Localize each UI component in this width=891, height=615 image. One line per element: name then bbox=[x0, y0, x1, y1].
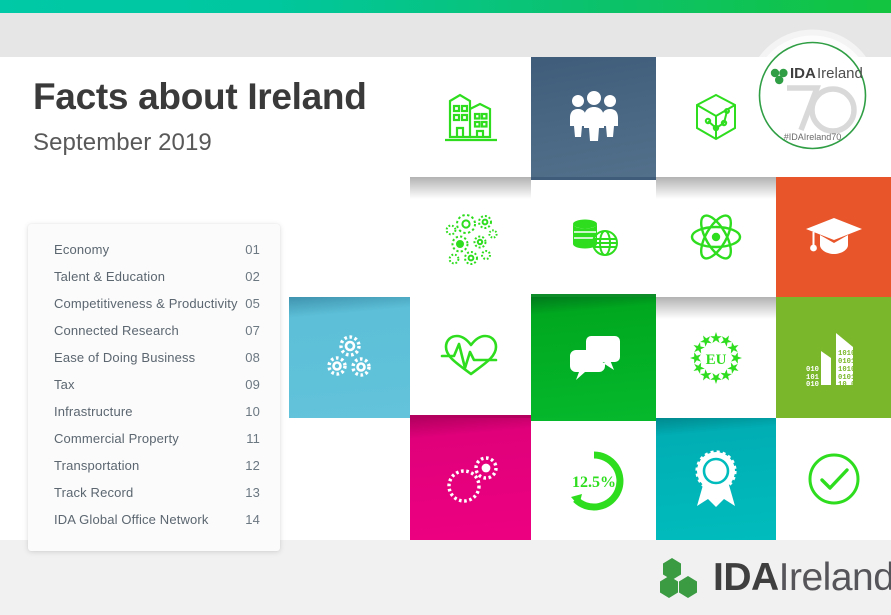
toc-item-page: 09 bbox=[245, 377, 262, 392]
award-ribbon-icon: 1 bbox=[687, 449, 745, 509]
badge-brand-suffix: Ireland bbox=[817, 65, 863, 82]
toc-item-page: 01 bbox=[245, 242, 262, 257]
toc-item[interactable]: Economy01 bbox=[46, 236, 262, 263]
tile-eu-stars: EU bbox=[656, 297, 776, 418]
page-subtitle: September 2019 bbox=[33, 129, 433, 157]
toc-item[interactable]: Tax09 bbox=[46, 371, 262, 398]
toc-item-label: Connected Research bbox=[54, 323, 179, 338]
svg-text:10 01: 10 01 bbox=[838, 381, 860, 389]
svg-text:010: 010 bbox=[806, 366, 819, 374]
ida-wordmark: IDAIreland bbox=[713, 558, 891, 597]
top-accent-bar bbox=[0, 0, 891, 13]
toc-item[interactable]: Commercial Property11 bbox=[46, 425, 262, 452]
toc-item-label: Talent & Education bbox=[54, 269, 165, 284]
toc-item[interactable]: Infrastructure10 bbox=[46, 398, 262, 425]
table-of-contents: Economy01Talent & Education02Competitive… bbox=[28, 224, 280, 551]
tax-rate-label: 12.5% bbox=[572, 474, 616, 491]
tile-graduation bbox=[776, 177, 891, 297]
badge-brand: IDA bbox=[790, 65, 816, 82]
database-globe-icon bbox=[566, 212, 622, 262]
tile-tax-rate: 12.5% bbox=[531, 418, 656, 540]
tile-gears-blue bbox=[289, 297, 410, 418]
eu-label: EU bbox=[706, 352, 727, 368]
svg-text:10101: 10101 bbox=[838, 350, 860, 358]
tile-heart-pulse bbox=[410, 297, 531, 418]
award-number-label: 1 bbox=[712, 462, 721, 481]
heart-pulse-icon bbox=[440, 330, 502, 382]
network-cube-icon bbox=[691, 90, 741, 144]
toc-item-label: IDA Global Office Network bbox=[54, 512, 209, 527]
toc-item-page: 11 bbox=[246, 431, 262, 446]
toc-item[interactable]: Track Record13 bbox=[46, 479, 262, 506]
badge-hashtag: #IDAIreland70 bbox=[784, 132, 842, 142]
two-gears-icon bbox=[439, 449, 503, 509]
toc-item-page: 08 bbox=[245, 350, 262, 365]
toc-item-label: Tax bbox=[54, 377, 75, 392]
anniversary-badge-70: IDA Ireland #IDAIreland70 bbox=[745, 28, 880, 163]
ida-wordmark-bold: IDA bbox=[713, 556, 779, 599]
svg-text:010: 010 bbox=[806, 381, 819, 389]
people-group-icon bbox=[566, 91, 622, 143]
toc-item-label: Commercial Property bbox=[54, 431, 179, 446]
ida-hexagons-icon bbox=[659, 556, 701, 598]
toc-item-page: 14 bbox=[245, 512, 262, 527]
title-block: Facts about Ireland September 2019 bbox=[33, 78, 433, 157]
slide-canvas: EU 10101 01010 10101 01010 10 01 010 101… bbox=[0, 0, 891, 615]
tile-people bbox=[531, 57, 656, 177]
tile-award: 1 bbox=[656, 418, 776, 540]
toc-item-label: Transportation bbox=[54, 458, 139, 473]
speech-bubbles-icon bbox=[566, 334, 622, 382]
toc-item[interactable]: Talent & Education02 bbox=[46, 263, 262, 290]
toc-item-page: 12 bbox=[245, 458, 262, 473]
toc-item-page: 10 bbox=[245, 404, 262, 419]
check-circle-icon bbox=[805, 450, 863, 508]
page-title: Facts about Ireland bbox=[33, 78, 433, 117]
toc-item-label: Track Record bbox=[54, 485, 133, 500]
tile-gear-pink bbox=[410, 418, 531, 540]
toc-item-page: 05 bbox=[245, 296, 262, 311]
svg-text:10101: 10101 bbox=[838, 366, 860, 374]
toc-item-label: Competitiveness & Productivity bbox=[54, 296, 238, 311]
binary-building-icon: 10101 01010 10101 01010 10 01 010 101 01… bbox=[803, 327, 865, 389]
svg-text:01010: 01010 bbox=[838, 358, 860, 366]
toc-item-label: Ease of Doing Business bbox=[54, 350, 195, 365]
ida-wordmark-light: Ireland bbox=[779, 556, 891, 599]
toc-item[interactable]: Competitiveness & Productivity05 bbox=[46, 290, 262, 317]
gear-cluster-icon bbox=[436, 202, 506, 272]
toc-item[interactable]: Ease of Doing Business08 bbox=[46, 344, 262, 371]
three-gears-icon bbox=[319, 330, 381, 386]
toc-item-page: 13 bbox=[245, 485, 262, 500]
ida-ireland-logo: IDAIreland bbox=[659, 556, 891, 598]
tile-check bbox=[776, 418, 891, 540]
tile-binary-building: 10101 01010 10101 01010 10 01 010 101 01… bbox=[776, 297, 891, 418]
toc-item[interactable]: IDA Global Office Network14 bbox=[46, 506, 262, 533]
toc-item[interactable]: Transportation12 bbox=[46, 452, 262, 479]
donut-percent-icon: 12.5% bbox=[563, 450, 625, 512]
tile-speech bbox=[531, 297, 656, 418]
office-buildings-icon bbox=[442, 87, 500, 147]
atom-icon bbox=[688, 212, 744, 262]
toc-item-label: Economy bbox=[54, 242, 109, 257]
tile-gear-cluster bbox=[410, 177, 531, 297]
tile-atom bbox=[656, 177, 776, 297]
eu-stars-icon: EU bbox=[687, 329, 745, 387]
graduation-cap-icon bbox=[804, 214, 864, 260]
toc-item-page: 07 bbox=[245, 323, 262, 338]
anniversary-badge-icon: IDA Ireland #IDAIreland70 bbox=[745, 28, 880, 163]
toc-item-page: 02 bbox=[245, 269, 262, 284]
tile-data-globe bbox=[531, 177, 656, 297]
toc-item[interactable]: Connected Research07 bbox=[46, 317, 262, 344]
toc-item-label: Infrastructure bbox=[54, 404, 133, 419]
